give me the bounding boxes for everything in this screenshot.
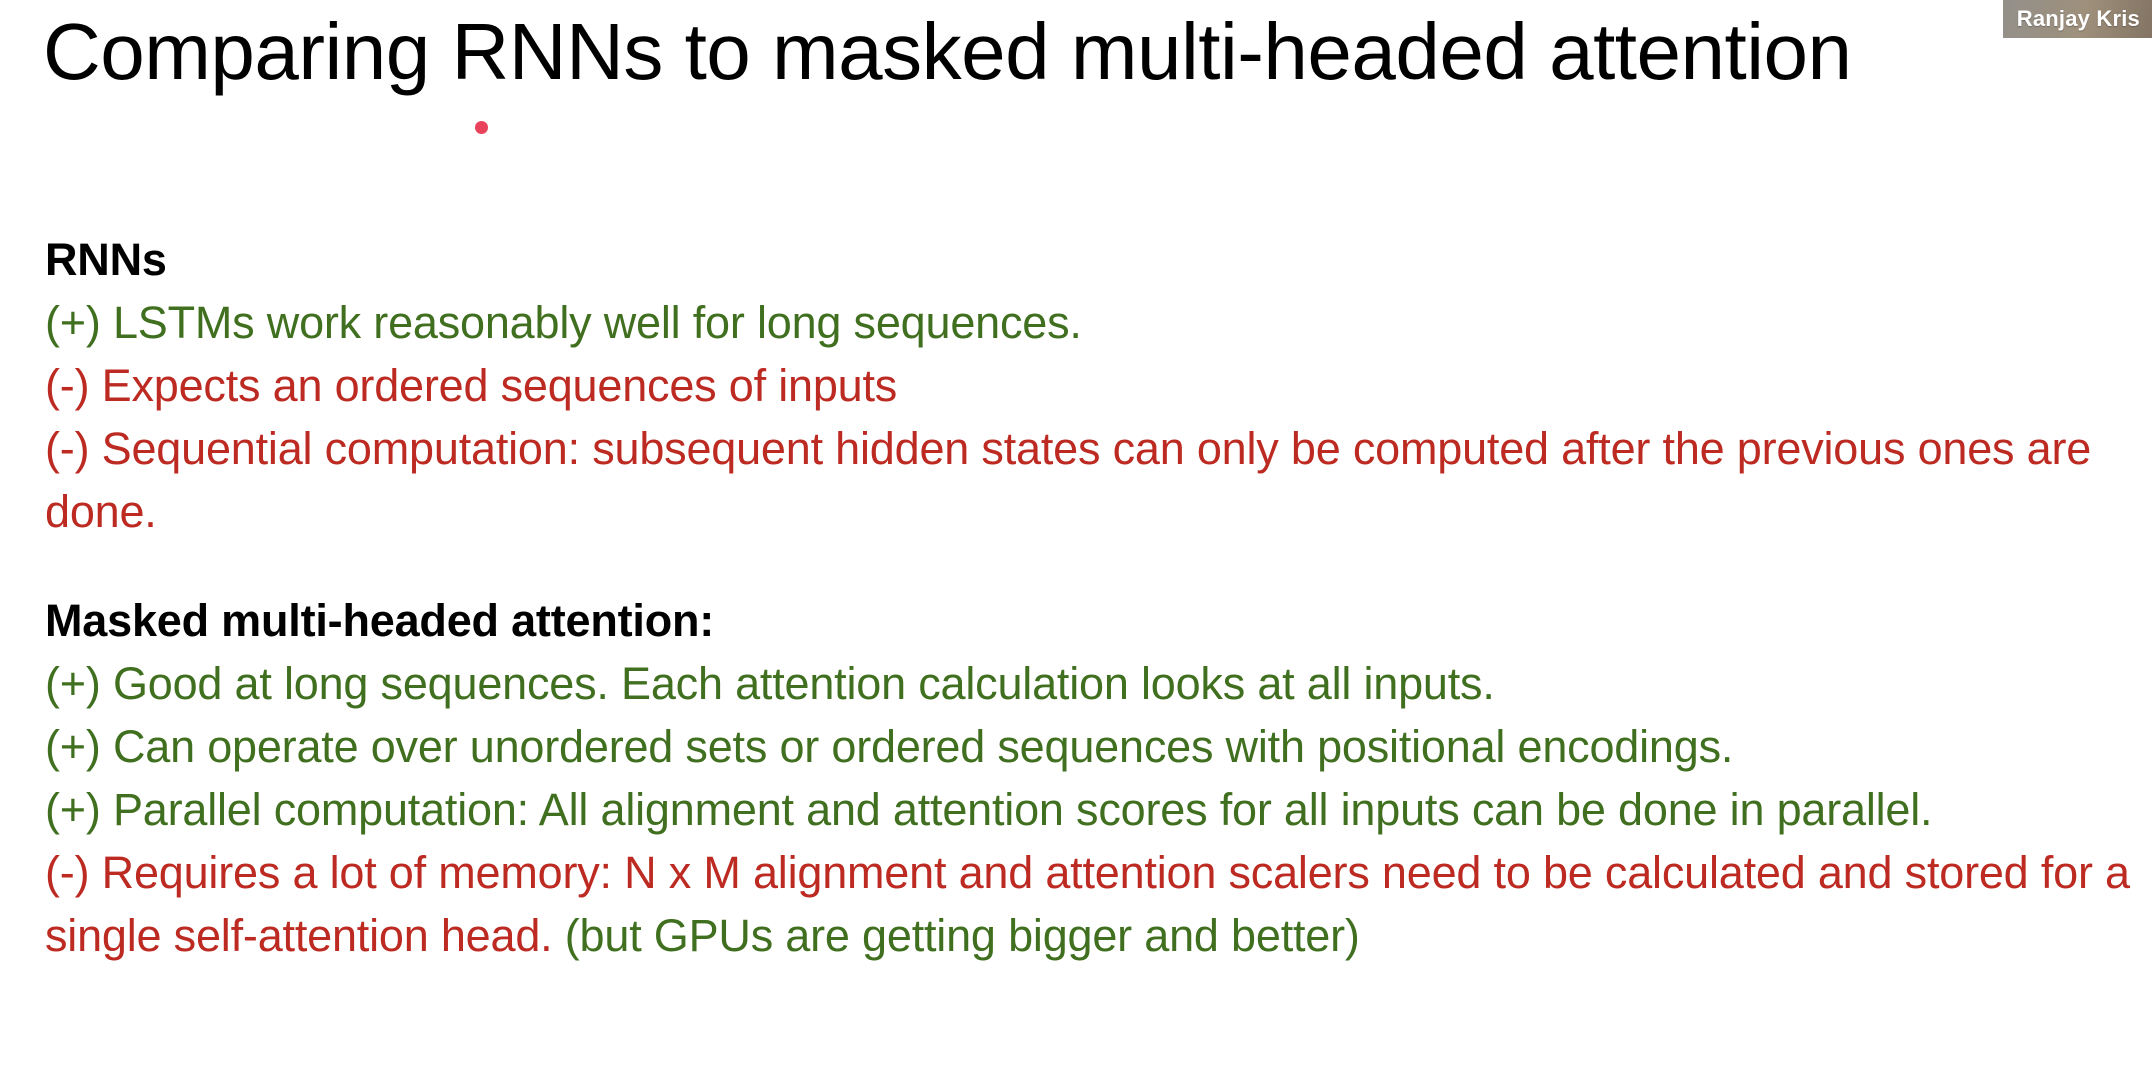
section-rnns: RNNs (+) LSTMs work reasonably well for … xyxy=(45,228,2130,543)
section-heading-rnns: RNNs xyxy=(45,228,2130,291)
presenter-name-badge: Ranjay Kris xyxy=(2003,0,2152,38)
slide-body: RNNs (+) LSTMs work reasonably well for … xyxy=(45,228,2130,967)
bullet-rnns-1: (+) LSTMs work reasonably well for long … xyxy=(45,291,2130,354)
bullet-attention-3: (+) Parallel computation: All alignment … xyxy=(45,778,2130,841)
section-masked-multi-headed-attention: Masked multi-headed attention: (+) Good … xyxy=(45,589,2130,967)
presenter-name-label: Ranjay Kris xyxy=(2017,6,2140,32)
section-heading-masked-attention: Masked multi-headed attention: xyxy=(45,589,2130,652)
bullet-attention-1: (+) Good at long sequences. Each attenti… xyxy=(45,652,2130,715)
title-accent-dot-icon xyxy=(475,121,488,134)
bullet-attention-4-aside-text: (but GPUs are getting bigger and better) xyxy=(565,910,1360,961)
slide-canvas: Comparing RNNs to masked multi-headed at… xyxy=(0,0,2152,1074)
bullet-attention-4: (-) Requires a lot of memory: N x M alig… xyxy=(45,841,2130,967)
bullet-attention-2: (+) Can operate over unordered sets or o… xyxy=(45,715,2130,778)
bullet-rnns-2: (-) Expects an ordered sequences of inpu… xyxy=(45,354,2130,417)
bullet-rnns-3: (-) Sequential computation: subsequent h… xyxy=(45,417,2130,543)
page-title: Comparing RNNs to masked multi-headed at… xyxy=(43,0,2103,104)
